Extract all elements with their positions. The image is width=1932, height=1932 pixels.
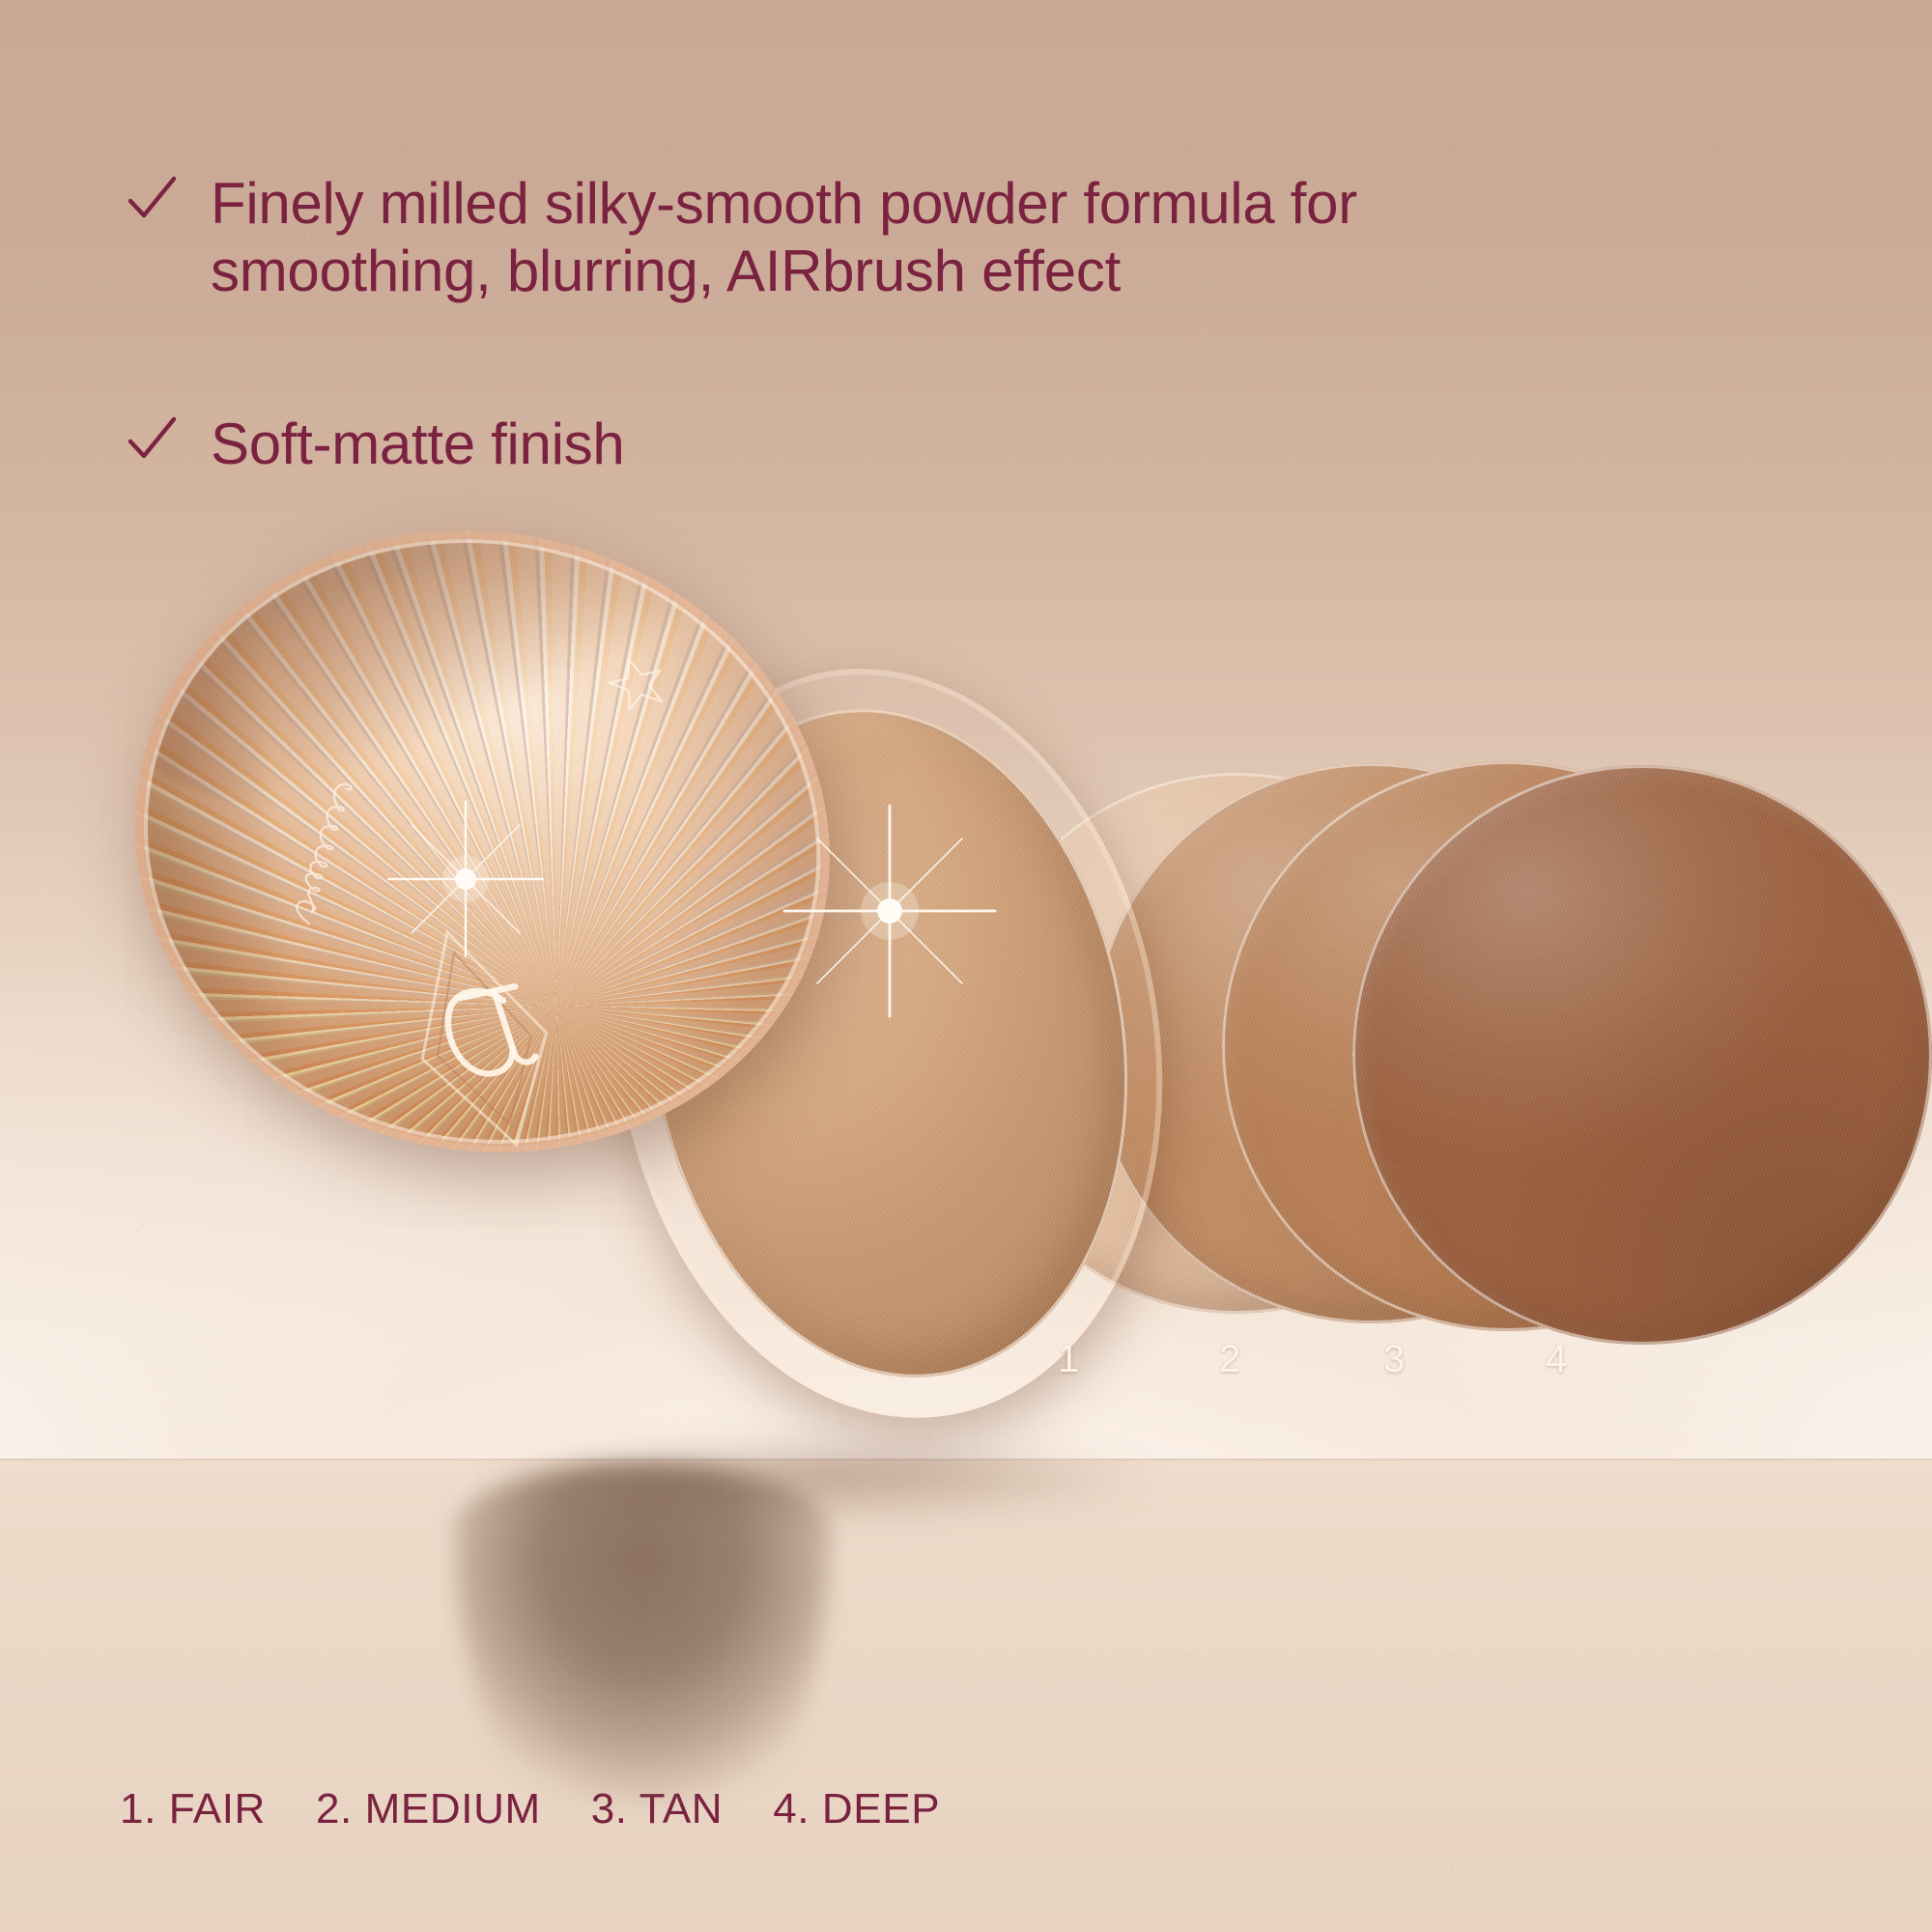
legend-name: MEDIUM [365, 1785, 541, 1833]
legend-name: FAIR [169, 1785, 266, 1833]
check-icon [126, 414, 178, 467]
legend-item-deep: 4. DEEP [773, 1785, 940, 1833]
legend-number: 4. [773, 1785, 810, 1833]
legend-number: 1. [120, 1785, 156, 1833]
product-marketing-image: 1 2 3 4 [0, 0, 1932, 1932]
feature-bullet-list: Finely milled silky-smooth powder formul… [122, 170, 1493, 478]
shade-number-3: 3 [1383, 1338, 1405, 1381]
legend-name: DEEP [822, 1785, 940, 1833]
feature-bullet-text: Finely milled silky-smooth powder formul… [211, 171, 1357, 303]
legend-number: 2. [316, 1785, 353, 1833]
check-icon [126, 174, 178, 226]
feature-bullet-text: Soft-matte finish [211, 412, 624, 476]
shade-number-4: 4 [1546, 1338, 1567, 1381]
feature-bullet-item: Finely milled silky-smooth powder formul… [122, 170, 1493, 304]
legend-item-fair: 1. FAIR [120, 1785, 266, 1833]
shade-number-2: 2 [1219, 1338, 1240, 1381]
legend-item-medium: 2. MEDIUM [316, 1785, 541, 1833]
shade-number-1: 1 [1058, 1338, 1079, 1381]
feature-bullet-item: Soft-matte finish [122, 411, 1493, 478]
